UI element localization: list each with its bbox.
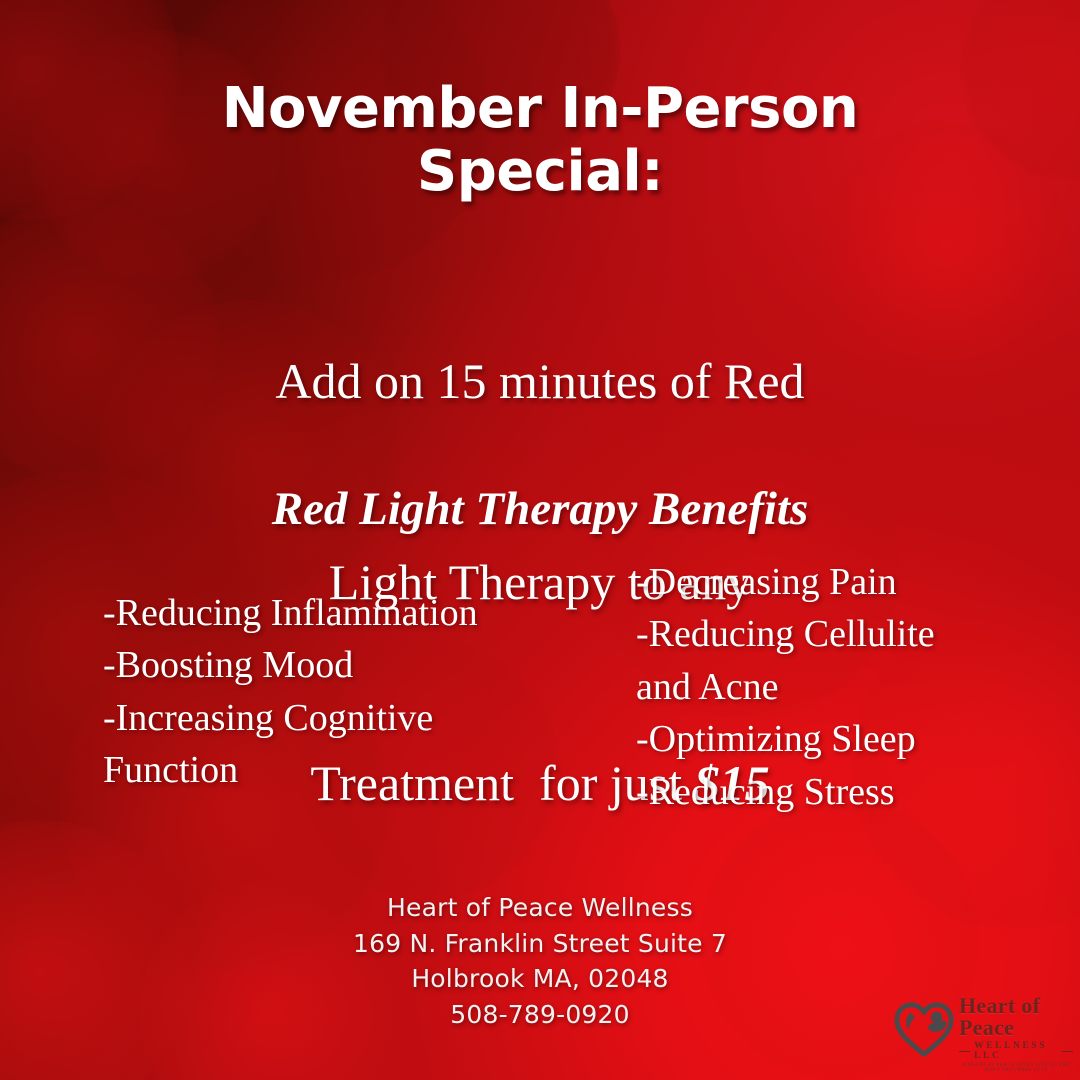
benefits-right-column: -Decreasing Pain -Reducing Cellulite and… — [636, 556, 1036, 818]
brand-logo: Heart of Peace WELLNESS LLC A HEART AT P… — [893, 993, 1073, 1065]
logo-rule-right — [1062, 1051, 1073, 1052]
offer-line-1: Add on 15 minutes of Red — [150, 348, 930, 415]
logo-wordmark: Heart of Peace WELLNESS LLC A HEART AT P… — [959, 985, 1073, 1073]
list-item-label: Optimizing Sleep — [649, 718, 916, 760]
list-item-continuation: and Acne — [636, 661, 1036, 713]
list-item-label: Reducing Stress — [649, 771, 895, 813]
logo-name: Heart of Peace — [959, 995, 1073, 1039]
logo-subtitle-row: WELLNESS LLC — [959, 1042, 1073, 1061]
list-item-label: Increasing Cognitive — [116, 697, 434, 739]
list-marker: - — [636, 771, 649, 813]
list-item-label: Reducing Cellulite — [649, 613, 935, 655]
list-marker: - — [636, 561, 649, 603]
list-item: -Decreasing Pain — [636, 556, 1036, 608]
list-marker: - — [103, 592, 116, 634]
city-state-zip: Holbrook MA, 02048 — [0, 961, 1080, 997]
list-marker: - — [636, 613, 649, 655]
list-item: -Boosting Mood — [103, 639, 573, 691]
promotional-flyer: November In-Person Special: Add on 15 mi… — [0, 0, 1080, 1080]
list-item: -Optimizing Sleep — [636, 713, 1036, 765]
list-marker: - — [103, 697, 116, 739]
list-item: -Reducing Stress — [636, 766, 1036, 818]
list-item-continuation: Function — [103, 744, 573, 796]
logo-subtitle: WELLNESS LLC — [974, 1042, 1058, 1061]
list-item-label: Decreasing Pain — [649, 561, 897, 603]
list-item: -Increasing Cognitive — [103, 692, 573, 744]
page-title: November In-Person Special: — [0, 78, 1080, 203]
logo-tagline: A HEART AT PEACE GIVES LIFE TO THE BODY … — [959, 1063, 1073, 1073]
business-name: Heart of Peace Wellness — [0, 890, 1080, 926]
list-marker: - — [636, 718, 649, 760]
content-stage: November In-Person Special: Add on 15 mi… — [0, 0, 1080, 1080]
street-address: 169 N. Franklin Street Suite 7 — [0, 926, 1080, 962]
logo-rule-left — [959, 1051, 970, 1052]
list-item-label: Reducing Inflammation — [116, 592, 478, 634]
benefits-left-column: -Reducing Inflammation -Boosting Mood -I… — [103, 587, 573, 797]
benefits-heading: Red Light Therapy Benefits — [0, 482, 1080, 536]
heart-with-figure-icon — [893, 999, 955, 1059]
list-item: -Reducing Cellulite — [636, 608, 1036, 660]
list-marker: - — [103, 644, 116, 686]
list-item-label: Boosting Mood — [116, 644, 354, 686]
list-item: -Reducing Inflammation — [103, 587, 573, 639]
